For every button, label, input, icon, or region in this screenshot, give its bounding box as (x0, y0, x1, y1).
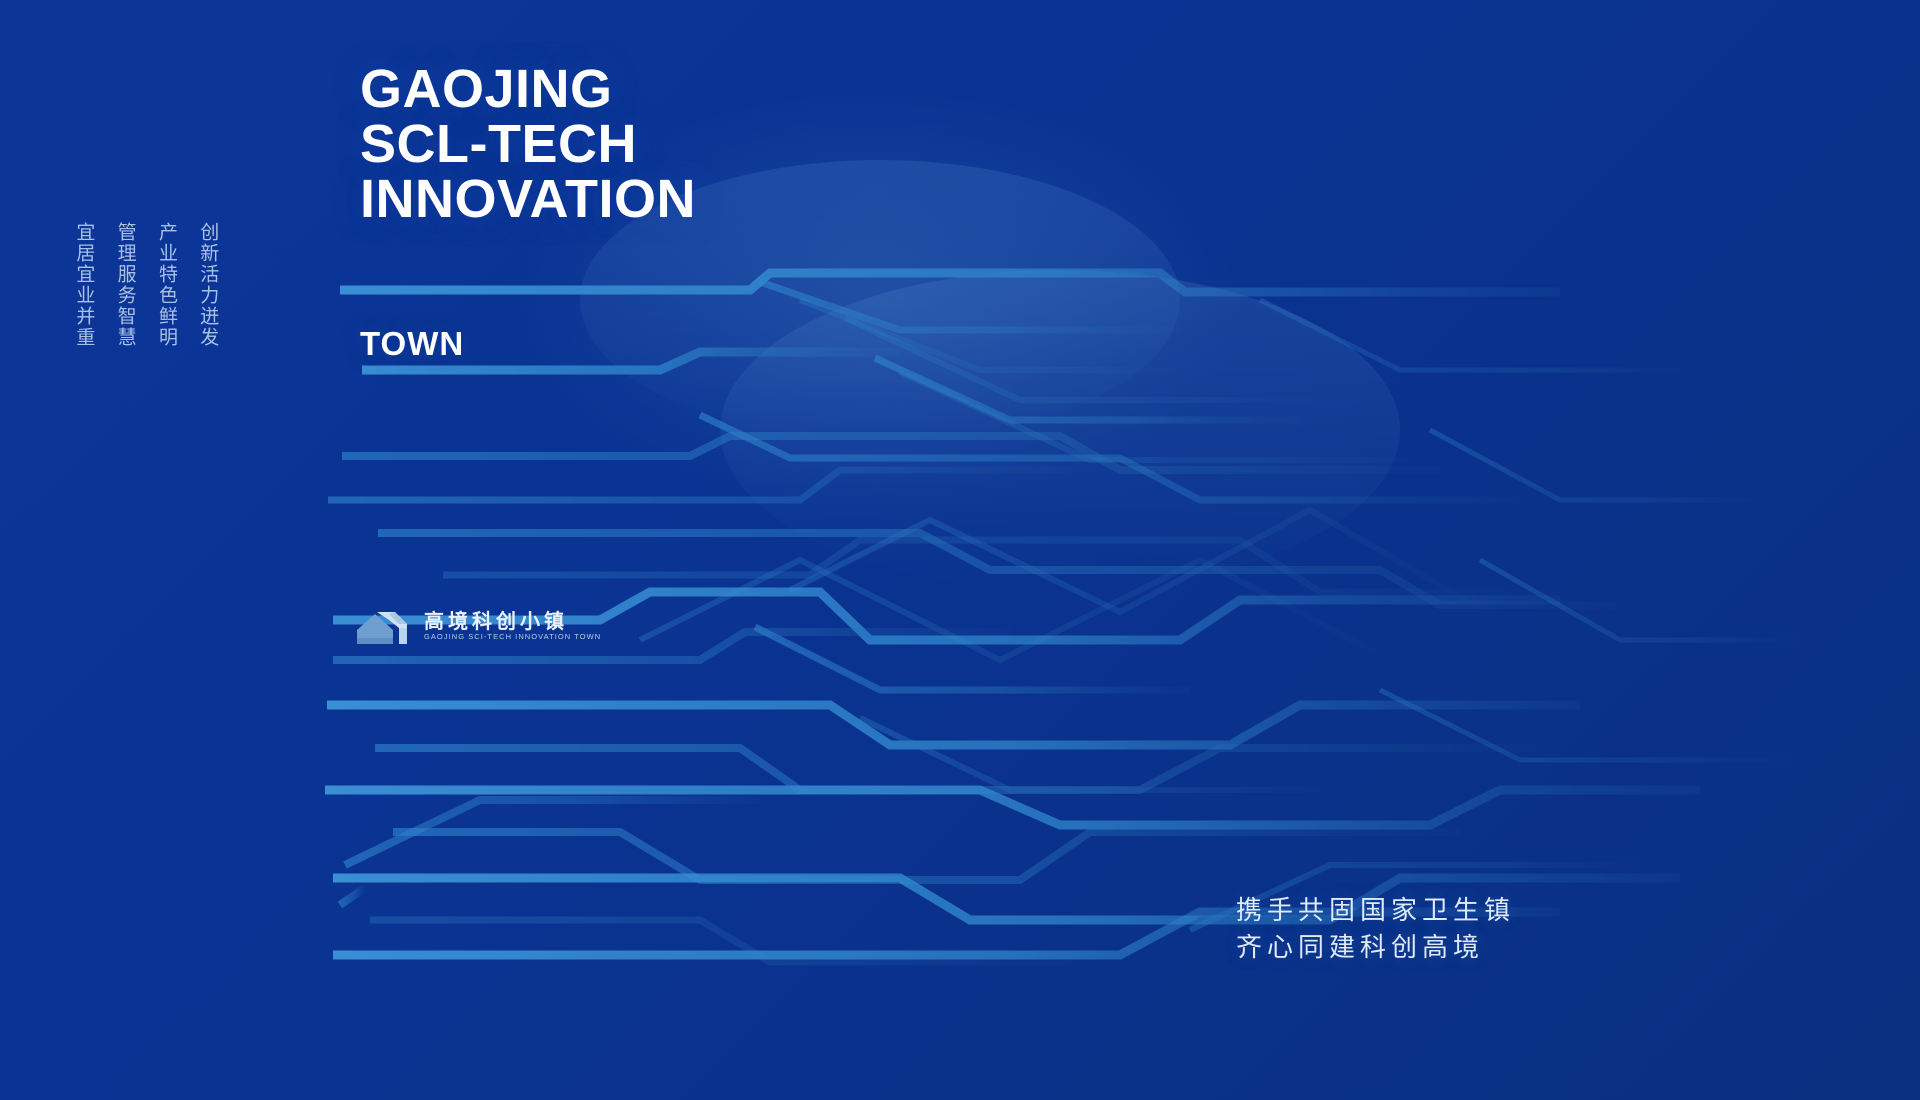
title-line-3: INNOVATION (360, 172, 696, 227)
logo-text-block: 高境科创小镇 GAOJING SCI-TECH INNOVATION TOWN (424, 611, 601, 641)
vertical-slogan-col-3: 管理服务智慧 (113, 222, 137, 348)
page-title: GAOJING SCL-TECH INNOVATION (360, 62, 696, 227)
house-building-icon (355, 604, 413, 648)
bottom-slogan-line-2: 齐心同建科创高境 (1236, 930, 1515, 967)
title-line-town: TOWN (360, 325, 464, 363)
vertical-slogan-col-1: 创新活力迸发 (196, 222, 220, 348)
bottom-slogan: 携手共固国家卫生镇 齐心同建科创高境 (1236, 893, 1515, 967)
title-line-1: GAOJING (360, 62, 696, 117)
vertical-slogan-col-4: 宜居宜业并重 (72, 222, 96, 348)
poster-canvas: GAOJING SCL-TECH INNOVATION TOWN 创新活力迸发 … (0, 0, 1920, 1100)
bottom-slogan-line-1: 携手共固国家卫生镇 (1236, 893, 1515, 930)
title-line-2: SCL-TECH (360, 117, 696, 172)
logo-name-cn: 高境科创小镇 (424, 611, 601, 631)
vertical-slogan: 创新活力迸发 产业特色鲜明 管理服务智慧 宜居宜业并重 (72, 222, 220, 348)
circuit-trace-background (0, 0, 1920, 1100)
logo-lockup: 高境科创小镇 GAOJING SCI-TECH INNOVATION TOWN (355, 604, 601, 648)
vertical-slogan-col-2: 产业特色鲜明 (155, 222, 179, 348)
logo-name-en: GAOJING SCI-TECH INNOVATION TOWN (424, 633, 601, 641)
